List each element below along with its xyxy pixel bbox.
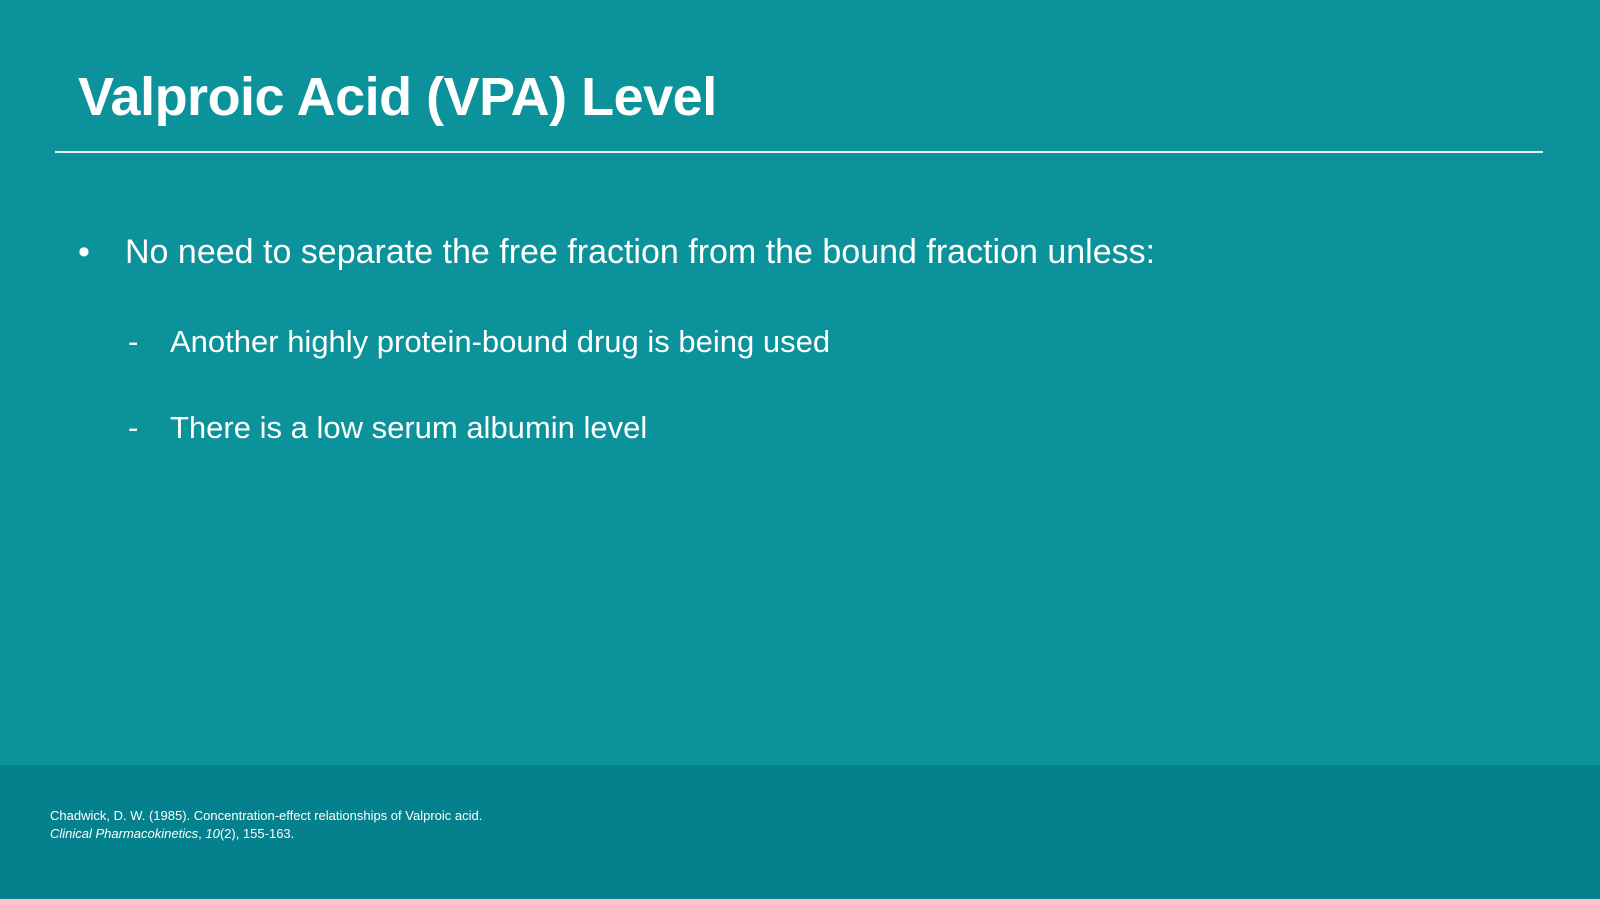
list-item-label: There is a low serum albumin level [170, 407, 647, 449]
dash-marker-icon: - [128, 321, 170, 363]
citation-issue-pages: (2), 155-163. [220, 826, 294, 841]
list-item-label: Another highly protein-bound drug is bei… [170, 321, 830, 363]
list-item: • No need to separate the free fraction … [0, 230, 1600, 275]
page-title: Valproic Acid (VPA) Level [78, 68, 717, 127]
list-item: - Another highly protein-bound drug is b… [0, 321, 1600, 363]
citation-line-1: Chadwick, D. W. (1985). Concentration-ef… [50, 807, 482, 825]
citation-journal-name: Clinical Pharmacokinetics [50, 826, 198, 841]
footer-band: Chadwick, D. W. (1985). Concentration-ef… [0, 765, 1600, 899]
bullet-marker-icon: • [78, 230, 125, 275]
list-item: - There is a low serum albumin level [0, 407, 1600, 449]
slide-canvas: Valproic Acid (VPA) Level • No need to s… [0, 0, 1600, 899]
citation-volume: 10 [205, 826, 219, 841]
body-content: • No need to separate the free fraction … [0, 230, 1600, 493]
title-divider [55, 151, 1543, 153]
dash-marker-icon: - [128, 407, 170, 449]
list-item-label: No need to separate the free fraction fr… [125, 230, 1155, 275]
citation-line-2: Clinical Pharmacokinetics, 10(2), 155-16… [50, 825, 482, 843]
citation-reference: Chadwick, D. W. (1985). Concentration-ef… [50, 807, 482, 844]
